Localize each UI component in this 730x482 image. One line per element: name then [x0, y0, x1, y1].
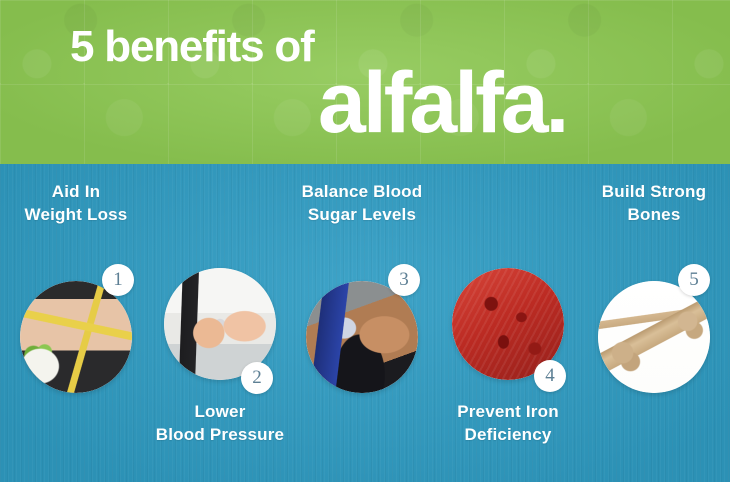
- benefit-3-badge: 3: [388, 264, 420, 296]
- benefits-panel: Aid In Weight Loss 1 2 Lower Blood Press…: [0, 164, 730, 482]
- benefit-3-label: Balance Blood Sugar Levels: [287, 180, 437, 226]
- waist-measuring-tape-salad-photo: [20, 281, 132, 393]
- benefit-3-photo-inner: [306, 281, 418, 393]
- infographic-root: 5 benefits of alfalfa. Aid In Weight Los…: [0, 0, 730, 482]
- benefit-5-label-line-2: Bones: [579, 203, 729, 226]
- headline-line-1: 5 benefits of: [70, 24, 314, 70]
- benefit-2-label: Lower Blood Pressure: [145, 400, 295, 446]
- benefit-2-label-line-2: Blood Pressure: [145, 423, 295, 446]
- benefit-5-photo[interactable]: [598, 281, 710, 393]
- benefit-3-label-line-2: Sugar Levels: [287, 203, 437, 226]
- benefit-5-label: Build Strong Bones: [579, 180, 729, 226]
- benefit-4-label: Prevent Iron Deficiency: [433, 400, 583, 446]
- benefit-1-label-line-2: Weight Loss: [6, 203, 146, 226]
- benefit-5-label-line-1: Build Strong: [579, 180, 729, 203]
- benefit-3-photo[interactable]: [306, 281, 418, 393]
- benefit-5-badge: 5: [678, 264, 710, 296]
- benefit-5-photo-inner: [598, 281, 710, 393]
- benefit-1-label: Aid In Weight Loss: [6, 180, 146, 226]
- bones-photo: [598, 281, 710, 393]
- benefit-4-label-line-1: Prevent Iron: [433, 400, 583, 423]
- benefit-4-label-line-2: Deficiency: [433, 423, 583, 446]
- glucose-meter-photo: [306, 281, 418, 393]
- benefit-1-badge: 1: [102, 264, 134, 296]
- benefit-2-badge: 2: [241, 362, 273, 394]
- benefit-4-badge: 4: [534, 360, 566, 392]
- benefit-3-label-line-1: Balance Blood: [287, 180, 437, 203]
- benefit-2-label-line-1: Lower: [145, 400, 295, 423]
- headline-line-2: alfalfa.: [318, 58, 566, 148]
- benefit-1-photo[interactable]: [20, 281, 132, 393]
- headline-group: 5 benefits of alfalfa.: [0, 0, 730, 164]
- benefit-1-photo-inner: [20, 281, 132, 393]
- header-banner: 5 benefits of alfalfa.: [0, 0, 730, 164]
- benefit-1-label-line-1: Aid In: [6, 180, 146, 203]
